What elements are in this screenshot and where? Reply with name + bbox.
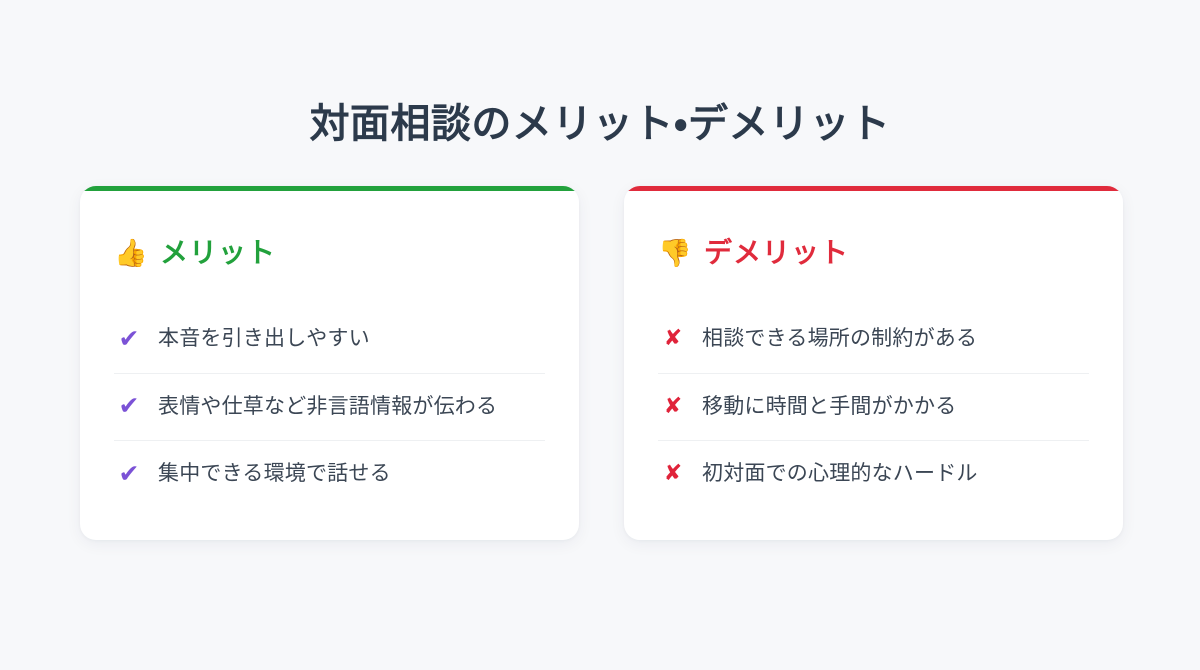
list-item-label: 表情や仕草など非言語情報が伝わる (158, 391, 540, 424)
thumbs-down-icon: 👎 (658, 240, 688, 267)
merit-list: ✔ 本音を引き出しやすい ✔ 表情や仕草など非言語情報が伝わる ✔ 集中できる環… (114, 306, 545, 508)
list-item: ✘ 相談できる場所の制約がある (658, 306, 1089, 374)
comparison-page: 対面相談のメリット・デメリット 👍 メリット ✔ 本音を引き出しやすい ✔ 表情… (0, 0, 1200, 670)
merit-card: 👍 メリット ✔ 本音を引き出しやすい ✔ 表情や仕草など非言語情報が伝わる ✔… (80, 186, 579, 540)
list-item: ✔ 表情や仕草など非言語情報が伝わる (114, 374, 545, 442)
cross-icon: ✘ (658, 463, 688, 485)
merit-heading: メリット (160, 239, 276, 267)
demerit-card: 👎 デメリット ✘ 相談できる場所の制約がある ✘ 移動に時間と手間がかかる ✘… (624, 186, 1123, 540)
merit-accent-bar (80, 186, 579, 191)
check-icon: ✔ (114, 462, 144, 487)
list-item: ✘ 初対面での心理的なハードル (658, 441, 1089, 508)
page-title: 対面相談のメリット・デメリット (0, 99, 1200, 149)
cross-icon: ✘ (658, 396, 688, 418)
list-item-label: 本音を引き出しやすい (158, 323, 540, 356)
list-item: ✘ 移動に時間と手間がかかる (658, 374, 1089, 442)
list-item-label: 初対面での心理的なハードル (702, 458, 1089, 491)
demerit-heading: デメリット (704, 239, 849, 267)
merit-card-header: 👍 メリット (114, 234, 545, 272)
list-item-label: 移動に時間と手間がかかる (702, 391, 1089, 424)
check-icon: ✔ (114, 394, 144, 419)
thumbs-up-icon: 👍 (114, 240, 144, 267)
demerit-card-header: 👎 デメリット (658, 234, 1089, 272)
cross-icon: ✘ (658, 328, 688, 350)
list-item-label: 集中できる環境で話せる (158, 458, 540, 491)
list-item-label: 相談できる場所の制約がある (702, 323, 1089, 356)
list-item: ✔ 本音を引き出しやすい (114, 306, 545, 374)
demerit-list: ✘ 相談できる場所の制約がある ✘ 移動に時間と手間がかかる ✘ 初対面での心理… (658, 306, 1089, 508)
check-icon: ✔ (114, 327, 144, 352)
comparison-cards: 👍 メリット ✔ 本音を引き出しやすい ✔ 表情や仕草など非言語情報が伝わる ✔… (80, 186, 1122, 540)
demerit-accent-bar (624, 186, 1123, 191)
list-item: ✔ 集中できる環境で話せる (114, 441, 545, 508)
